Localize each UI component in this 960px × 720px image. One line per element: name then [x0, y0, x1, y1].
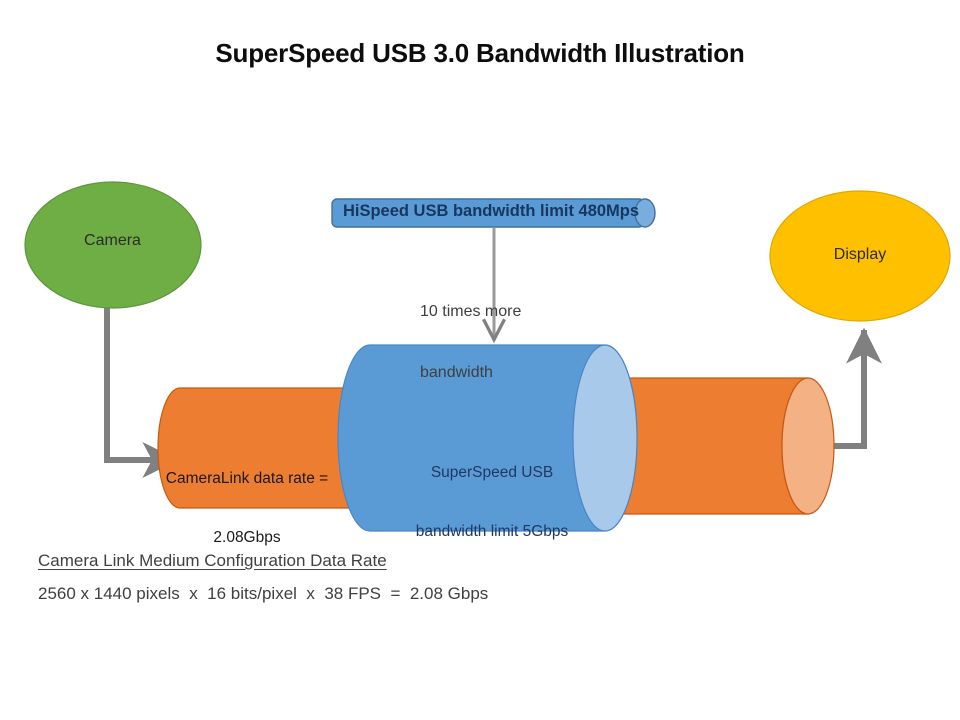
node-display-label: Display — [770, 245, 950, 265]
annotation-10x-line1: 10 times more — [420, 302, 580, 322]
superspeed-label-line1: SuperSpeed USB — [381, 463, 603, 483]
hispeed-pill-label: HiSpeed USB bandwidth limit 480Mps — [336, 201, 646, 222]
diagram-canvas: SuperSpeed USB 3.0 Bandwidth Illustratio… — [0, 0, 960, 720]
node-output-cylinder[interactable] — [618, 378, 834, 514]
caption-formula: 2560 x 1440 pixels x 16 bits/pixel x 38 … — [38, 584, 488, 604]
caption-heading: Camera Link Medium Configuration Data Ra… — [38, 551, 387, 571]
cameralink-label-line1: CameraLink data rate = — [141, 469, 353, 489]
cameralink-label-line2: 2.08Gbps — [141, 528, 353, 548]
annotation-10x-line2: bandwidth — [420, 363, 580, 383]
annotation-10x: 10 times more bandwidth — [420, 261, 580, 425]
node-camera-label: Camera — [25, 231, 200, 251]
superspeed-label-line2: bandwidth limit 5Gbps — [381, 522, 603, 542]
superspeed-cylinder-label: SuperSpeed USB bandwidth limit 5Gbps — [381, 423, 603, 582]
